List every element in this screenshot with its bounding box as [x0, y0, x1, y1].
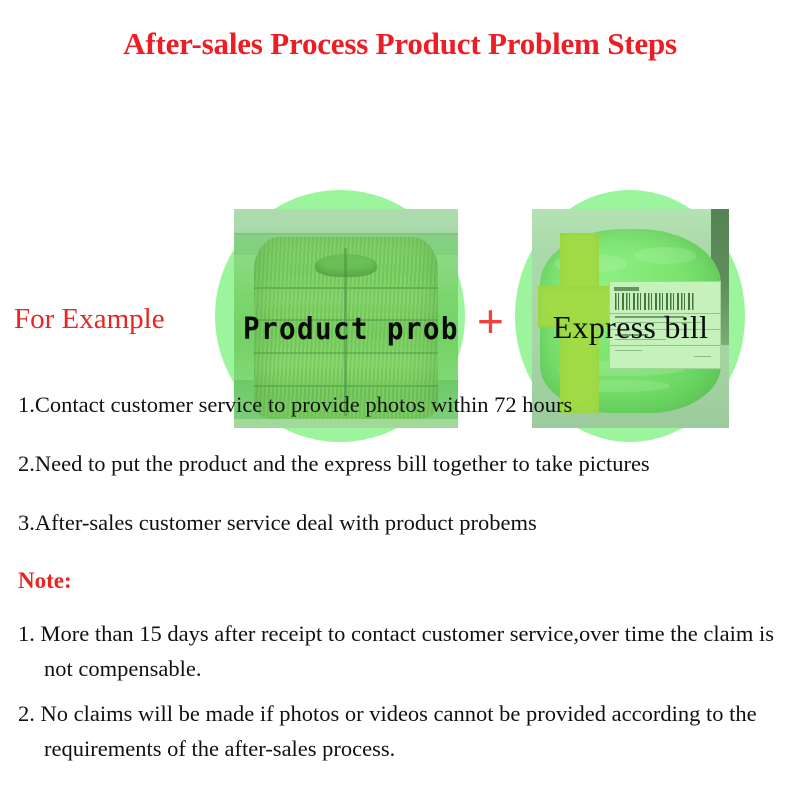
example-row: For Example Product problem +: [0, 93, 800, 355]
note-item: 2. No claims will be made if photos or v…: [18, 696, 790, 766]
product-problem-caption: Product problem: [243, 312, 449, 347]
step-item: 1.Contact customer service to provide ph…: [18, 392, 788, 418]
note-item: 1. More than 15 days after receipt to co…: [18, 616, 790, 686]
notes-list: 1. More than 15 days after receipt to co…: [18, 616, 790, 776]
step-item: 3.After-sales customer service deal with…: [18, 510, 788, 536]
plus-icon: +: [477, 298, 504, 344]
step-item: 2.Need to put the product and the expres…: [18, 451, 788, 477]
for-example-label: For Example: [14, 303, 165, 336]
note-heading: Note:: [18, 568, 72, 594]
page-title: After-sales Process Product Problem Step…: [0, 26, 800, 62]
steps-list: 1.Contact customer service to provide ph…: [18, 392, 788, 569]
express-bill-caption: Express bill: [532, 309, 729, 346]
